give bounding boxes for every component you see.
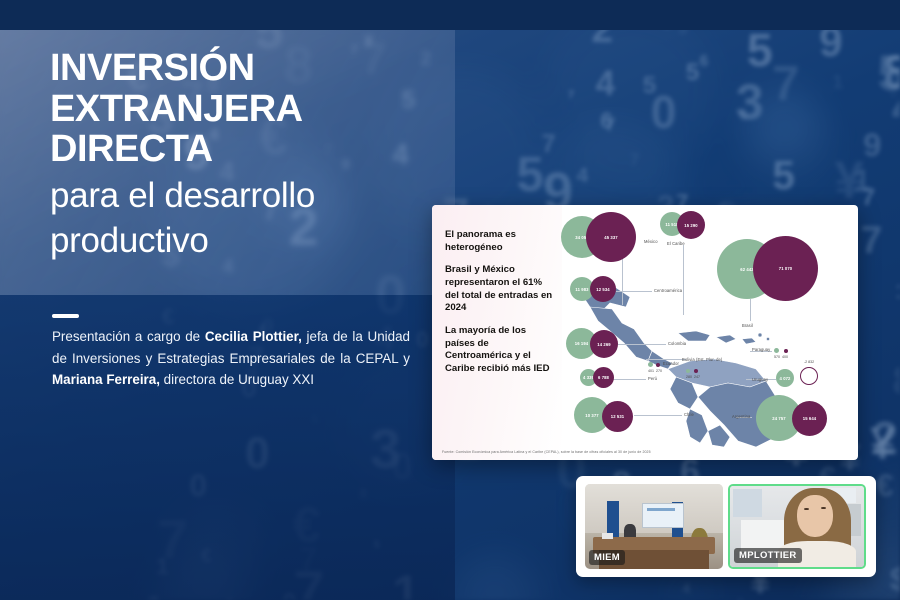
bubble-value: 10 377 <box>585 413 598 418</box>
subtitle-line-2: productivo <box>50 221 450 260</box>
bubble-value: 45 337 <box>604 235 617 240</box>
leader-line-colombia <box>618 344 666 345</box>
bubble-uruguay-2023: 4 072 <box>776 369 794 387</box>
title-line-1: INVERSIÓN <box>50 48 450 89</box>
bubble-value: 4 072 <box>780 376 791 381</box>
country-label-argentina: Argentina <box>732 414 750 419</box>
bubble-peru-2024: 6 788 <box>593 367 614 388</box>
bubble-value: 6 788 <box>598 375 609 380</box>
bubble-map-chart: 34 050 45 337 México 11 518 15 290 El Ca… <box>560 211 858 451</box>
bubble-value: 12 534 <box>596 287 609 292</box>
leader-line-centro <box>616 291 652 292</box>
slide-bullet-1: El panorama es heterogéneo <box>445 229 557 254</box>
leader-line-chile <box>634 415 682 416</box>
bubble-ecuador-2024 <box>656 363 660 367</box>
video-tile-miem[interactable]: MIEM <box>585 484 723 569</box>
country-label-mexico: México <box>644 239 658 244</box>
bubble-value-uruguay-2024: -2 832 <box>798 360 820 364</box>
video-participants-strip[interactable]: MIEM MPLOTTIER <box>576 476 876 577</box>
presenter-name-2: Mariana Ferreira, <box>52 372 160 387</box>
leader-line-peru <box>612 379 646 380</box>
country-label-paraguay: Paraguay <box>752 347 770 352</box>
bubble-argentina-2024: 15 644 <box>792 401 827 436</box>
subtitle-line-1: para el desarrollo <box>50 176 450 215</box>
country-label-bolivia: Bolivia (Est. Plur. de) <box>682 357 722 362</box>
presentation-screenshot: €¥73952507¥209$754781¥147€517$4€¥2347039… <box>0 0 900 600</box>
slide-bullet-list: El panorama es heterogéneo Brasil y Méxi… <box>445 229 557 386</box>
page-title: INVERSIÓN EXTRANJERA DIRECTA para el des… <box>50 48 450 260</box>
bubble-paraguay-2024 <box>784 349 788 353</box>
leader-line-bolivia <box>646 359 686 360</box>
bubble-caribe-2024: 15 290 <box>677 211 705 239</box>
bubble-value: 71 070 <box>779 266 792 271</box>
bubble-values-bolivia: 280 247 <box>681 375 705 379</box>
video-tile-mplottier[interactable]: MPLOTTIER <box>728 484 866 569</box>
shared-slide[interactable]: El panorama es heterogéneo Brasil y Méxi… <box>432 205 858 460</box>
bubble-bolivia-2023 <box>686 369 690 373</box>
credits-part-3: directora de Uruguay XXI <box>160 372 314 387</box>
country-label-brasil: Brasil <box>742 323 753 328</box>
bubble-value: 11 983 <box>575 287 588 292</box>
bubble-ecuador-2023 <box>648 362 653 367</box>
bubble-bolivia-2024 <box>694 369 698 373</box>
country-label-ecuador: Ecuador <box>663 361 679 366</box>
bubble-value: 270 <box>656 369 662 373</box>
bubble-brasil-2024: 71 070 <box>753 236 818 301</box>
bubble-mexico-2024: 45 337 <box>586 212 636 262</box>
leader-line-brasil <box>750 299 751 321</box>
bubble-uruguay-2024 <box>800 367 818 385</box>
chart-source-note: Fuente: Comisión Económica para América … <box>442 450 772 454</box>
bubble-value: 401 <box>648 369 654 373</box>
country-label-uruguay: Uruguay <box>752 377 768 382</box>
bubble-value: 570 <box>774 355 780 359</box>
country-label-peru: Perú <box>648 376 657 381</box>
bubble-chile-2024: 12 531 <box>602 401 633 432</box>
bubble-value: 247 <box>694 375 700 379</box>
title-line-3: DIRECTA <box>50 129 450 170</box>
bubble-value: 280 <box>686 375 692 379</box>
bubble-value: 16 194 <box>575 341 588 346</box>
bubble-value: 12 531 <box>611 414 624 419</box>
bubble-value: 15 290 <box>684 223 697 228</box>
bubble-value: 15 644 <box>803 416 816 421</box>
bubble-value: 24 757 <box>772 416 785 421</box>
country-label-colombia: Colombia <box>668 341 686 346</box>
bubble-centroamerica-2024: 12 534 <box>590 276 616 302</box>
title-divider-rule <box>52 314 79 318</box>
bubble-values-paraguay: 570 400 <box>769 355 793 359</box>
presenter-name-1: Cecilia Plottier, <box>205 329 302 344</box>
country-label-chile: Chile <box>684 412 694 417</box>
country-label-caribe: El Caribe <box>667 241 685 246</box>
bubble-value: 14 269 <box>597 342 610 347</box>
bubble-value: 400 <box>782 355 788 359</box>
bubble-colombia-2024: 14 269 <box>590 330 618 358</box>
top-navy-bar <box>0 0 900 30</box>
credits-part-1: Presentación a cargo de <box>52 329 205 344</box>
slide-bullet-2: Brasil y México representaron el 61% del… <box>445 264 557 315</box>
bubble-values-ecuador: 401 270 <box>644 369 666 373</box>
participant-name-badge: MPLOTTIER <box>734 548 802 563</box>
presenter-credits: Presentación a cargo de Cecilia Plottier… <box>52 326 410 391</box>
participant-name-badge: MIEM <box>589 550 625 565</box>
title-line-2: EXTRANJERA <box>50 89 450 130</box>
bubble-paraguay-2023 <box>774 348 779 353</box>
bubble-value: 62 442 <box>740 267 753 272</box>
leader-line-caribe <box>683 245 684 315</box>
slide-bullet-3: La mayoría de los países de Centroaméric… <box>445 325 557 376</box>
country-label-centroamerica: Centroamérica <box>654 288 682 293</box>
